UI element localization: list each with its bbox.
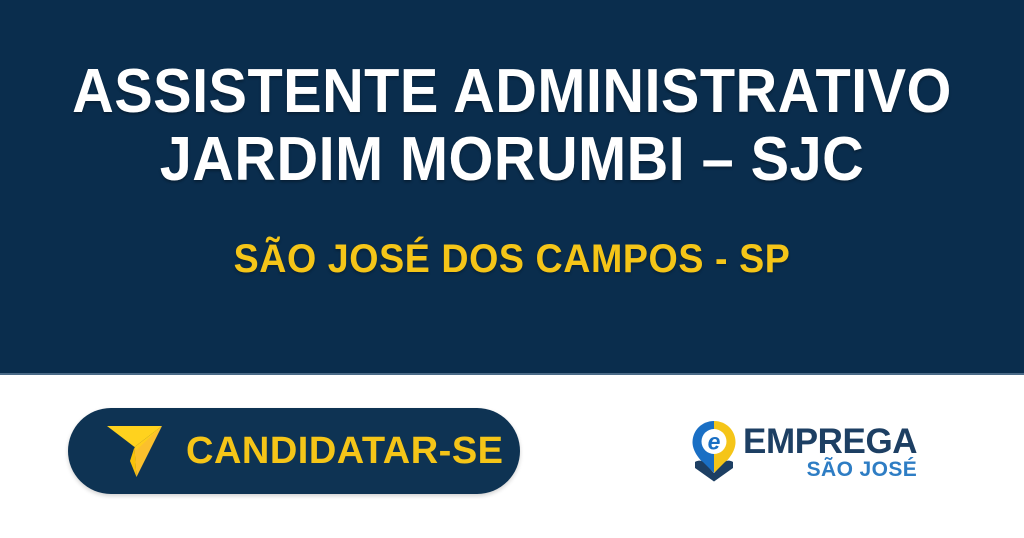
- brand-subname: São José: [807, 459, 918, 481]
- brand-wordmark: Emprega São José: [743, 420, 917, 481]
- banner: ASSISTENTE ADMINISTRATIVO JARDIM MORUMBI…: [0, 0, 1024, 375]
- apply-button[interactable]: Candidatar-se: [68, 408, 520, 494]
- apply-button-label: Candidatar-se: [186, 432, 504, 470]
- brand-name: Emprega: [743, 425, 917, 458]
- brand-logo[interactable]: e Emprega São José: [691, 420, 917, 482]
- page-title: ASSISTENTE ADMINISTRATIVO JARDIM MORUMBI…: [36, 58, 988, 194]
- map-pin-e-icon: e: [691, 420, 737, 482]
- location-subtitle: São José dos Campos - SP: [31, 236, 994, 282]
- send-plane-icon: [106, 420, 164, 482]
- footer: Candidatar-se: [0, 375, 1024, 538]
- svg-text:e: e: [708, 429, 721, 455]
- job-posting-card: ASSISTENTE ADMINISTRATIVO JARDIM MORUMBI…: [0, 0, 1024, 538]
